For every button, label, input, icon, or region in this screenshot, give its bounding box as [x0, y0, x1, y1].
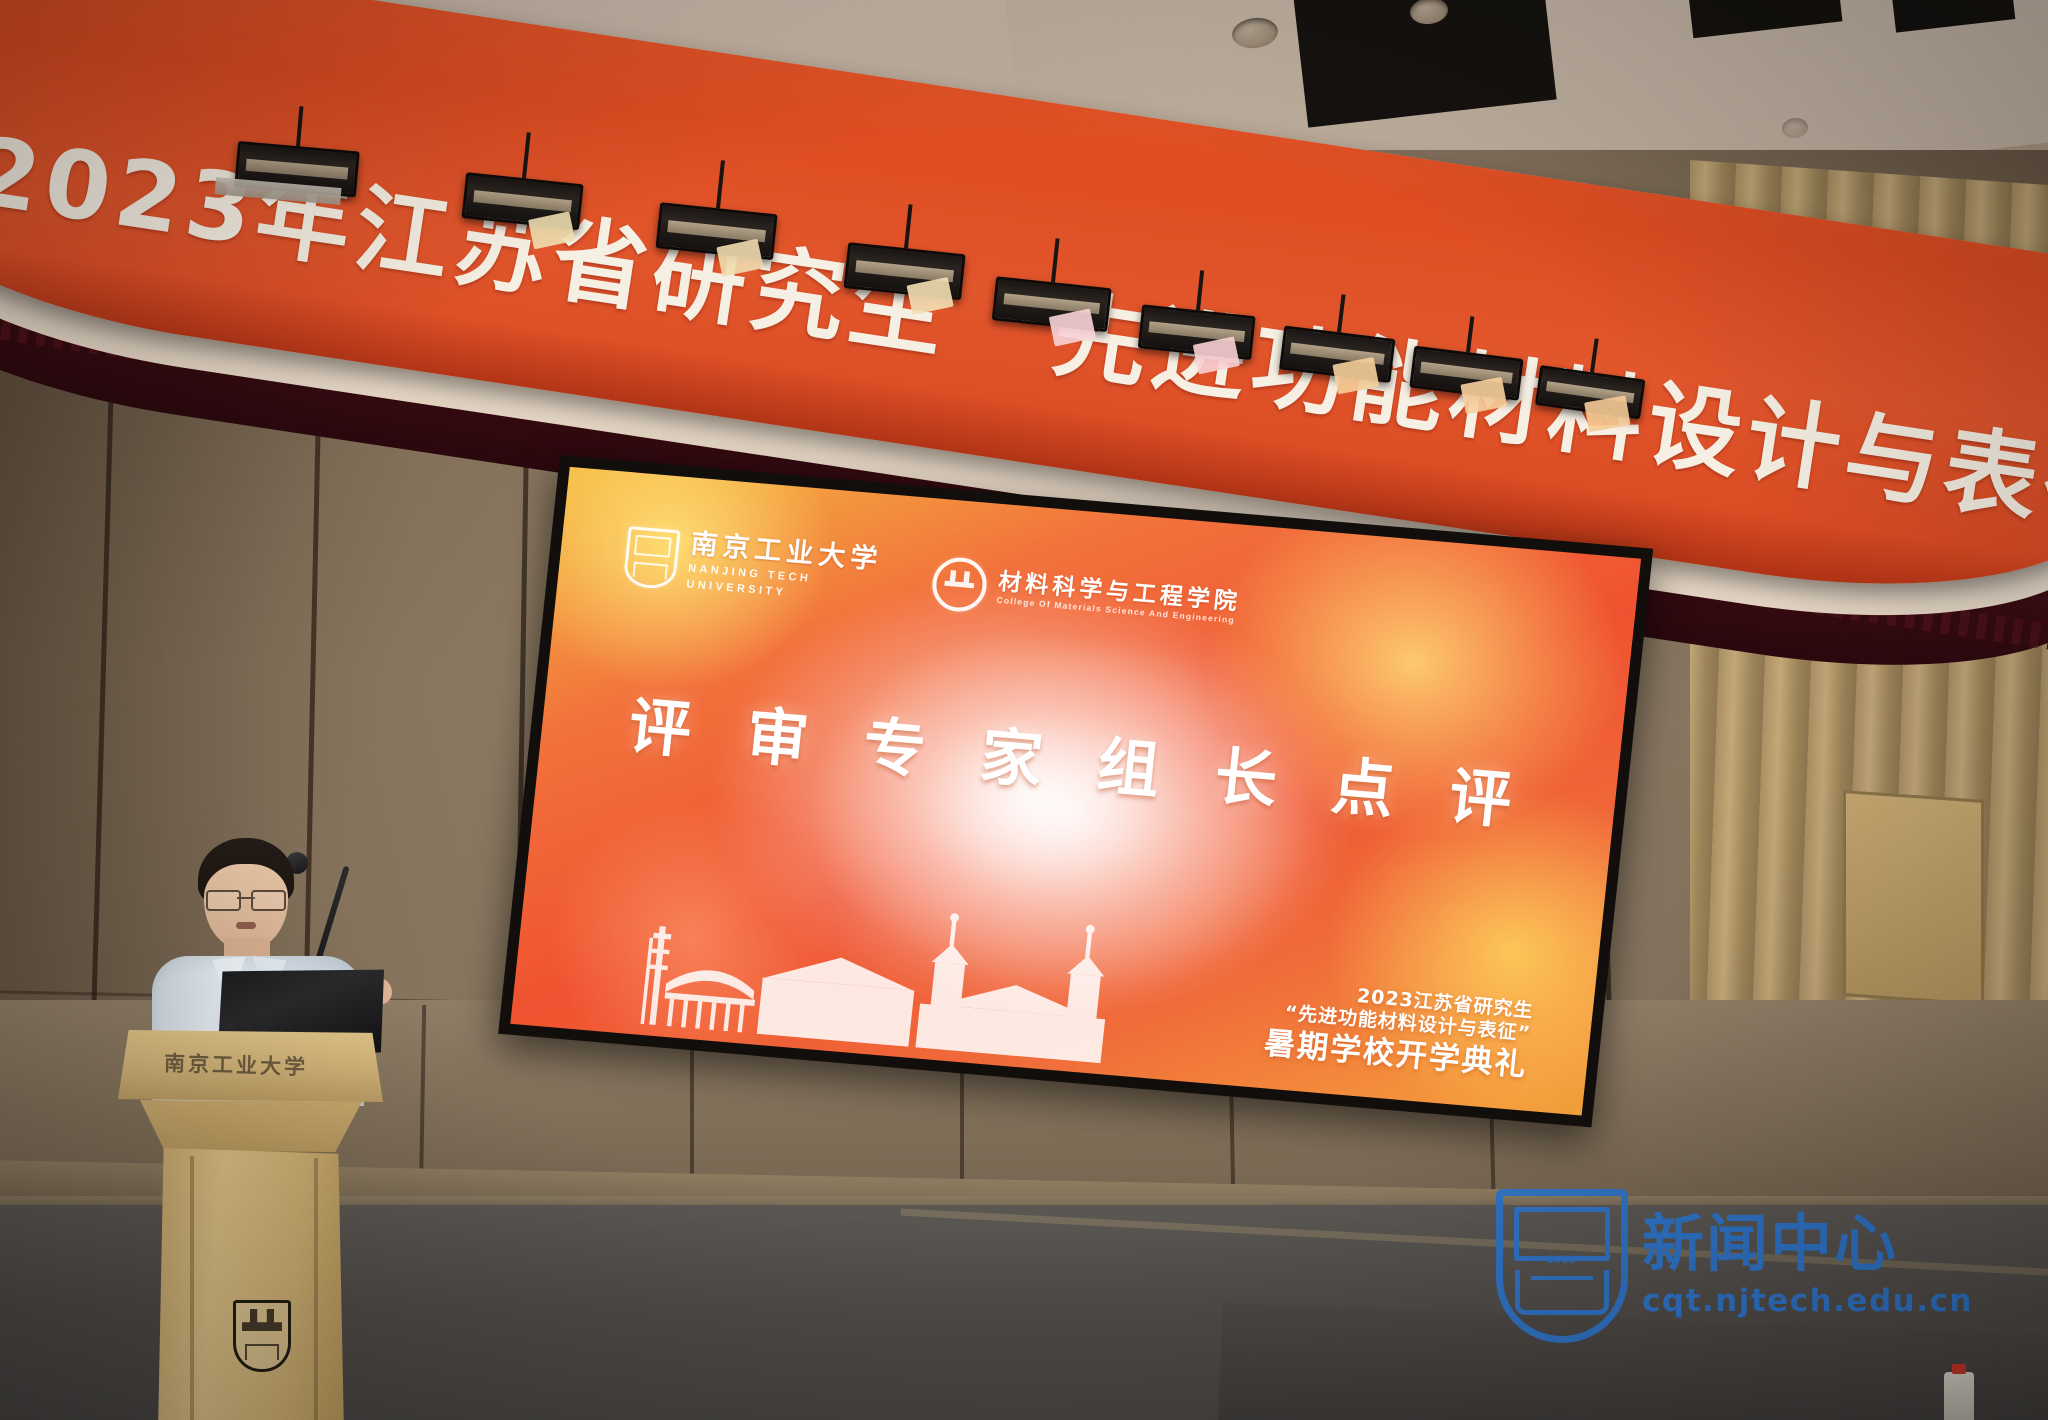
side-door[interactable]	[1843, 790, 1984, 1006]
watermark-text: 新闻中心 cqt.njtech.edu.cn	[1642, 1213, 1973, 1319]
university-logo: 南京工业大学 NANJING TECH UNIVERSITY	[622, 525, 884, 609]
speaker-mouth	[236, 922, 256, 929]
podium-engraving: 南京工业大学	[164, 1047, 355, 1086]
slide-footer: 2023江苏省研究生 “先进功能材料设计与表征” 暑期学校开学典礼	[1262, 977, 1534, 1085]
led-presentation-screen[interactable]: 南京工业大学 NANJING TECH UNIVERSITY 材料科学与工程学院…	[498, 455, 1653, 1127]
podium-neck	[140, 1100, 362, 1152]
shield-band	[1514, 1207, 1610, 1261]
university-crest-icon	[233, 1300, 291, 1372]
watermark-label: 新闻中心	[1642, 1213, 1973, 1275]
slide-canvas: 南京工业大学 NANJING TECH UNIVERSITY 材料科学与工程学院…	[510, 467, 1641, 1116]
slide-logo-row: 南京工业大学 NANJING TECH UNIVERSITY 材料科学与工程学院…	[622, 525, 1243, 639]
podium-seam-right	[314, 1158, 318, 1420]
water-bottle	[1944, 1372, 1974, 1420]
shield-year: 1902	[1503, 1254, 1621, 1266]
ring-gate-icon	[929, 556, 989, 614]
eyeglasses-icon	[206, 890, 286, 907]
shield-book-line	[1531, 1276, 1593, 1280]
podium: 南京工业大学	[118, 1030, 383, 1420]
shield-crest-icon	[622, 526, 680, 590]
podium-seam-left	[190, 1156, 194, 1420]
photograph-scene: 2023年江苏省研究生 “先进功能材料设计与表征” 暑期学校	[0, 0, 2048, 1420]
njtech-shield-icon: 1902	[1496, 1189, 1628, 1343]
watermark-url: cqt.njtech.edu.cn	[1642, 1283, 1973, 1319]
news-center-watermark: 1902 新闻中心 cqt.njtech.edu.cn	[1496, 1192, 2036, 1340]
college-logo: 材料科学与工程学院 College Of Materials Science A…	[929, 556, 1243, 636]
